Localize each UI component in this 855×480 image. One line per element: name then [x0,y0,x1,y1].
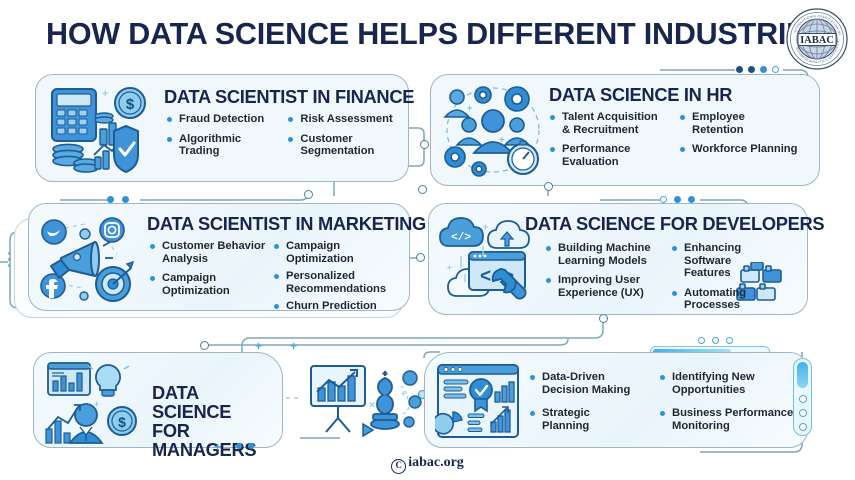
decor-dots-managers [236,443,254,449]
dot [688,196,695,203]
card-managers-left[interactable]: $ + DATA SCIENCE FOR MANAGERS [33,352,283,448]
card-finance[interactable]: $ + DATA SCIENTIST IN FINANCE [35,74,409,182]
bullet-item: Improving User Experience (UX) [545,274,671,299]
dot [248,443,254,449]
chart-easel-chess-king-icon: ×+ [305,362,423,444]
bullet-item: Talent Acquisition & Recruitment [549,111,679,136]
card-marketing[interactable]: DATA SCIENTIST IN MARKETING Customer Beh… [28,203,410,311]
bullet-item: Building Machine Learning Models [545,242,671,267]
bullet-item: Employee Retention [679,111,809,136]
card-finance-title: DATA SCIENTIST IN FINANCE [164,88,414,107]
svg-text:+: + [467,103,472,113]
card-hr-title: DATA SCIENCE IN HR [549,86,732,105]
card-developers-title: DATA SCIENCE FOR DEVELOPERS [525,215,824,234]
dot [736,66,743,73]
vertical-slider[interactable] [793,358,812,436]
slider-knob[interactable] [799,423,807,431]
wire-node [420,140,429,149]
wire-node [544,182,553,191]
megaphone-social-target-icon [37,210,145,306]
card-developers-bullets: Building Machine Learning Models Improvi… [545,242,795,319]
slider-knob[interactable] [799,395,807,403]
bullet-item: Campaign Optimization [149,272,273,297]
bullet-item: Data-Driven Decision Making [529,371,659,396]
bullet-item: Risk Assessment [287,113,404,126]
decor-ticks-left [8,252,11,267]
infographic-canvas: HOW DATA SCIENCE HELPS DIFFERENT INDUSTR… [0,0,855,480]
page-title: HOW DATA SCIENCE HELPS DIFFERENT INDUSTR… [46,18,786,50]
dot [712,337,719,344]
bullet-item: Automating Processes [671,287,791,312]
card-marketing-title: DATA SCIENTIST IN MARKETING [147,215,426,234]
people-gears-stopwatch-icon: ++ [439,81,547,179]
logo-wordmark: IABAC [800,35,834,46]
svg-text:$: $ [118,414,126,430]
svg-text:+: + [94,399,99,409]
wire-node [304,190,313,199]
dot [748,66,755,73]
svg-text:+: + [483,222,488,232]
plus-decor: + [290,340,297,352]
plus-decor: + [255,340,262,352]
dot [760,66,767,73]
decor-dots-bottom [698,337,733,344]
bullet-item: Campaign Optimization [273,240,407,265]
dashboard-bulb-manager-dollar-icon: $ + [44,359,146,445]
dot [122,196,129,203]
footer-credit: Ciabac.org [0,455,855,474]
svg-text:+: + [102,88,108,100]
bullet-item: Fraud Detection [166,113,287,126]
bullet-item: Personalized Recommendations [273,270,407,295]
iabac-logo: IABAC INTERNATIONAL ASSOCIATION OF BUSIN… [786,8,848,70]
dot [726,337,733,344]
wire-node [418,185,427,194]
svg-text:+: + [401,389,406,398]
dot [772,66,779,73]
calculator-coins-shield-icon: $ + [46,83,154,175]
bullet-item: Performance Evaluation [549,143,679,168]
bullet-item: Business Performance Monitoring [659,407,799,432]
bullet-item: Algorithmic Trading [166,133,287,158]
dot [698,337,705,344]
bullet-item: Customer Segmentation [287,133,404,158]
wire-node [416,253,425,262]
slider-knob[interactable] [799,409,807,417]
wire-node [200,341,209,350]
bullet-item: Workforce Planning [679,143,809,156]
bullet-item: Churn Prediction [273,300,407,313]
bullet-item: Customer Behavior Analysis [149,240,273,265]
dot [660,196,667,203]
svg-text:+: + [499,135,505,146]
svg-text:</>: </> [451,232,471,244]
bullet-item: Enhancing Software Features [671,242,791,280]
card-marketing-bullets: Customer Behavior Analysis Campaign Opti… [149,240,407,320]
svg-text:+: + [447,263,452,272]
dot [674,196,681,203]
copyright-icon: C [391,459,406,474]
bullet-item: Strategic Planning [529,407,659,432]
card-managers-bullets: Data-Driven Decision Making Strategic Pl… [529,371,799,439]
wire-node [599,314,608,323]
card-finance-bullets: Fraud Detection Algorithmic Trading Risk… [166,113,404,165]
card-managers-right[interactable]: Data-Driven Decision Making Strategic Pl… [424,352,808,448]
svg-text:$: $ [126,96,135,113]
svg-text:×: × [369,400,375,411]
slider-fill [797,362,808,388]
report-pie-badge-icon [435,362,521,440]
dot [107,196,114,203]
card-hr-bullets: Talent Acquisition & Recruitment Perform… [549,111,811,175]
dot [236,443,242,449]
card-hr[interactable]: ++ DATA SCIENCE IN HR Talent Acquisition… [430,74,820,186]
decor-dots-marketing [107,196,129,203]
decor-dots-top-right [736,66,779,73]
decor-dots-developers [660,196,695,203]
footer-site: iabac.org [408,455,464,470]
card-developers[interactable]: </> </> ++ [428,203,808,315]
bullet-item: Identifying New Opportunities [659,371,799,396]
plus-decor: + [214,441,221,453]
